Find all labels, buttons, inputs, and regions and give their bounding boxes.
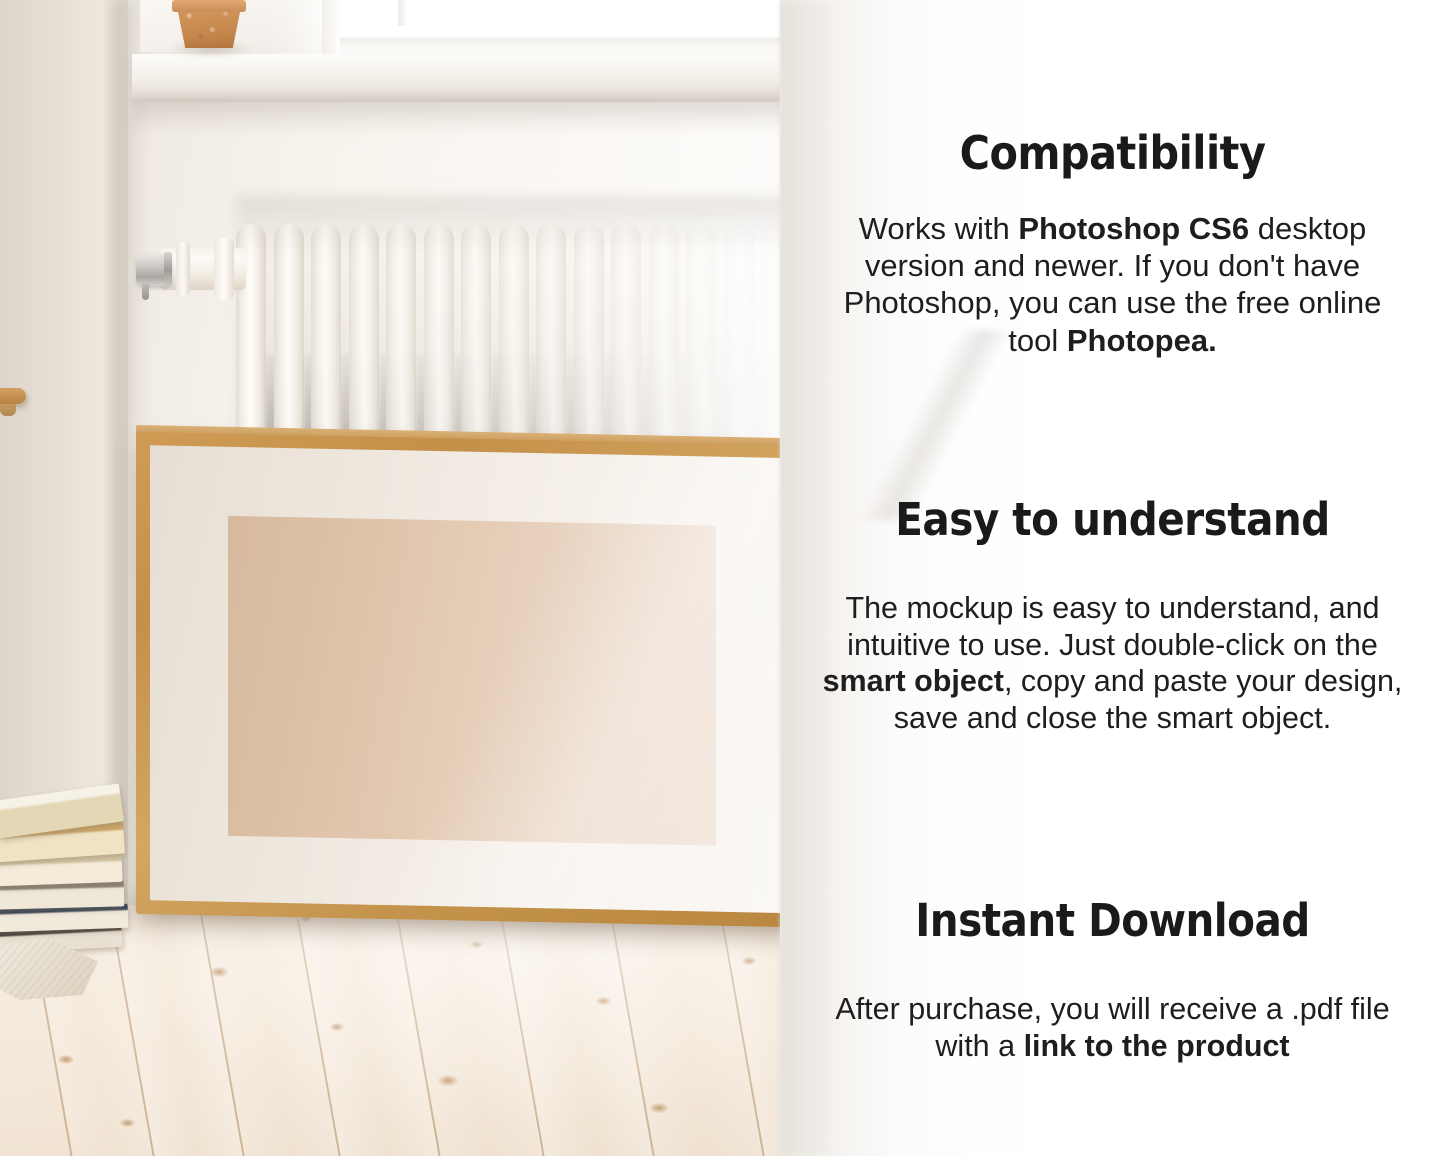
radiator-pipe-collar-inner	[176, 242, 190, 296]
book-stack	[0, 770, 162, 960]
mockup-listing-image: Compatibility Works with Photoshop CS6 d…	[0, 0, 1445, 1156]
section-instant-download: Instant Download After purchase, you wil…	[780, 898, 1445, 1064]
radiator-fin	[461, 224, 491, 444]
floor-knot	[210, 967, 228, 977]
radiator-fin	[536, 224, 566, 444]
window-sill-shelf	[132, 54, 815, 94]
window-frame-left	[322, 0, 340, 54]
radiator-fin	[274, 224, 304, 444]
terracotta-pot-rim	[172, 0, 246, 12]
section-compatibility: Compatibility Works with Photoshop CS6 d…	[780, 130, 1445, 359]
floor-knot	[58, 1055, 74, 1064]
easy-to-understand-heading: Easy to understand	[780, 497, 1445, 542]
compatibility-body: Works with Photoshop CS6 desktop version…	[780, 210, 1445, 359]
radiator-fin	[424, 224, 454, 444]
oak-picture-frame	[136, 432, 804, 927]
radiator-valve-tail	[142, 284, 149, 300]
radiator-pipe-collar-outer	[214, 238, 234, 300]
floor-knot	[596, 997, 611, 1005]
interior-photograph	[0, 0, 815, 1156]
window-glazing-bar	[330, 38, 815, 48]
floor-knot	[120, 1119, 135, 1127]
compatibility-heading: Compatibility	[780, 130, 1445, 176]
poster-artwork-smart-object	[228, 516, 716, 846]
easy-to-understand-body: The mockup is easy to understand, and in…	[780, 590, 1445, 736]
window-frame-mullion	[398, 0, 407, 26]
wooden-wall-peg	[0, 388, 26, 404]
radiator-fin	[499, 224, 529, 444]
floor-knot	[650, 1103, 668, 1113]
floor-knot	[742, 957, 756, 965]
instant-download-body: After purchase, you will receive a .pdf …	[780, 991, 1445, 1064]
section-easy-to-understand: Easy to understand The mockup is easy to…	[780, 497, 1445, 736]
radiator-top-shadow	[236, 196, 796, 256]
radiator-fin	[349, 224, 379, 444]
column-radiator	[236, 224, 796, 444]
window-sill-shadow	[132, 100, 815, 134]
floor-knot	[438, 1075, 458, 1086]
instant-download-heading: Instant Download	[780, 898, 1445, 943]
radiator-valve-ring	[164, 252, 172, 288]
radiator-fin	[386, 224, 416, 444]
radiator-fin	[311, 224, 341, 444]
floor-knot	[330, 1023, 344, 1031]
wooden-wall-peg-base	[0, 404, 16, 416]
